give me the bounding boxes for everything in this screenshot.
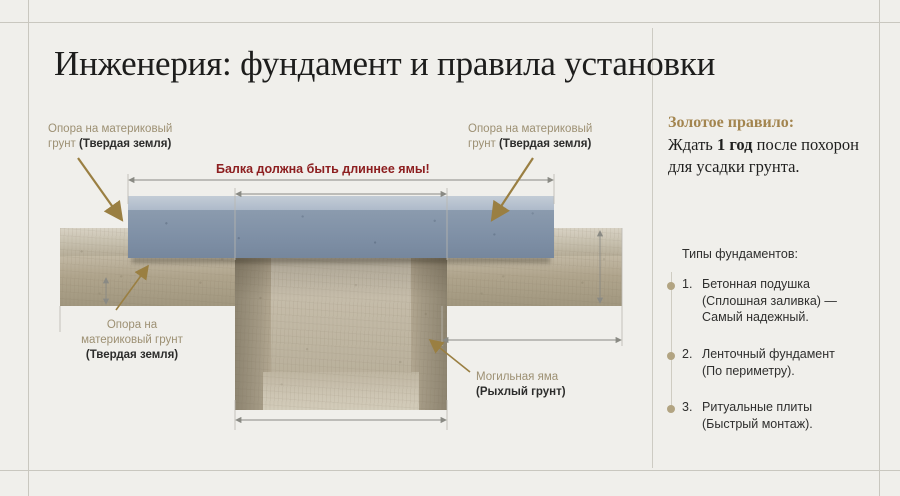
- foundation-type-item-2: 2. Ленточный фундамент (По периметру).: [682, 346, 872, 379]
- types-timeline-line: [671, 272, 672, 407]
- type-number: 3.: [682, 399, 698, 416]
- golden-rule-title: Золотое правило:: [668, 112, 874, 133]
- slide-canvas: Инженерия: фундамент и правила установки: [0, 0, 900, 496]
- dimension-overlay: [30, 100, 650, 460]
- right-panel: Золотое правило: Ждать 1 год после похор…: [668, 112, 874, 178]
- beam-warning-label: Балка должна быть длиннее ямы!: [216, 162, 430, 176]
- callout-text-line2-soft: грунт: [48, 138, 76, 150]
- page-title: Инженерия: фундамент и правила установки: [54, 44, 794, 84]
- golden-rule-before: Ждать: [668, 135, 717, 154]
- golden-rule-text: Ждать 1 год после похорон для усадки гру…: [668, 134, 874, 178]
- foundation-type-item-1: 1. Бетонная подушка (Сплошная заливка) —…: [682, 276, 872, 326]
- frame-left-line: [28, 0, 29, 496]
- golden-rule-bold: 1 год: [717, 135, 753, 154]
- types-bullet-dot: [667, 352, 675, 360]
- types-bullet-dot: [667, 405, 675, 413]
- leader-line-grave-pit: [430, 340, 470, 372]
- type-number: 1.: [682, 276, 698, 293]
- callout-text-line2-strong: (Рыхлый грунт): [476, 386, 566, 398]
- callout-text-line2: материковый грунт: [81, 334, 183, 346]
- frame-bottom-line: [0, 470, 900, 471]
- leader-line-support-bottom-left: [116, 266, 148, 310]
- callout-support-bottom-left: Опора на материковый грунт (Твердая земл…: [52, 318, 212, 363]
- type-line1: Ленточный фундамент: [702, 346, 872, 363]
- panel-divider: [652, 28, 653, 468]
- callout-grave-pit: Могильная яма (Рыхлый грунт): [476, 370, 636, 400]
- callout-text-line2-strong: (Твердая земля): [79, 138, 171, 150]
- type-line1: Ритуальные плиты: [702, 399, 872, 416]
- type-line3: Самый надежный.: [702, 309, 872, 326]
- leader-line-support-left-top: [78, 158, 122, 220]
- type-line2: (Быстрый монтаж).: [702, 416, 872, 433]
- type-line2: (По периметру).: [702, 363, 872, 380]
- callout-text-line3-strong: (Твердая земля): [86, 349, 178, 361]
- callout-text-line1: Могильная яма: [476, 371, 558, 383]
- callout-text-line1: Опора на материковый: [468, 123, 592, 135]
- foundation-types-heading: Типы фундаментов:: [682, 247, 798, 261]
- frame-top-line: [0, 22, 900, 23]
- callout-text-line2-soft: грунт: [468, 138, 496, 150]
- frame-right-line: [879, 0, 880, 496]
- foundation-type-item-3: 3. Ритуальные плиты (Быстрый монтаж).: [682, 399, 872, 432]
- type-number: 2.: [682, 346, 698, 363]
- callout-text-line2-strong: (Твердая земля): [499, 138, 591, 150]
- foundation-diagram: Балка должна быть длиннее ямы! Опора на …: [30, 100, 650, 460]
- types-bullet-dot: [667, 282, 675, 290]
- callout-text-line1: Опора на материковый: [48, 123, 172, 135]
- type-line1: Бетонная подушка: [702, 276, 872, 293]
- type-line2: (Сплошная заливка) —: [702, 293, 872, 310]
- callout-text-line1: Опора на: [107, 319, 157, 331]
- callout-support-right-top: Опора на материковый грунт (Твердая земл…: [468, 122, 648, 152]
- leader-line-support-right-top: [492, 158, 533, 220]
- callout-support-left-top: Опора на материковый грунт (Твердая земл…: [48, 122, 228, 152]
